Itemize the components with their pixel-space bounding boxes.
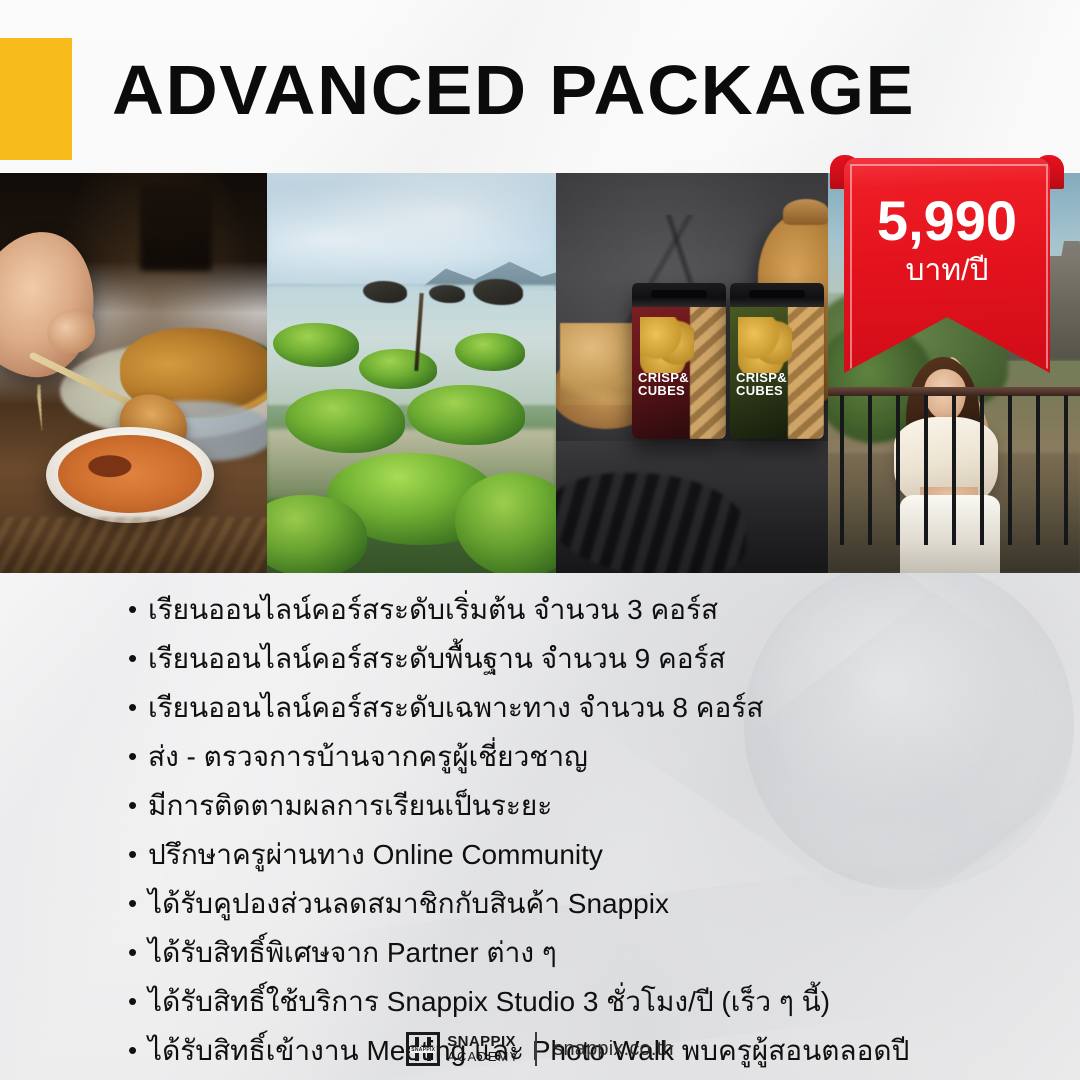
footer-url: snappix.co.th xyxy=(553,1038,673,1061)
product-jar-green: CRISP& CUBES xyxy=(730,283,824,439)
list-item: • เรียนออนไลน์คอร์สระดับเริ่มต้น จำนวน 3… xyxy=(128,590,988,629)
price-amount: 5,990 xyxy=(830,193,1064,249)
photo-detail xyxy=(0,517,267,573)
bullet-icon: • xyxy=(128,737,148,776)
header: ADVANCED PACKAGE xyxy=(0,0,1080,173)
footer: SNAPPIX SNAPPIX ACADEMY snappix.co.th xyxy=(0,1032,1080,1066)
list-item-label: ได้รับสิทธิ์ใช้บริการ Snappix Studio 3 ช… xyxy=(148,982,830,1021)
bullet-icon: • xyxy=(128,786,148,825)
bullet-icon: • xyxy=(128,933,148,972)
photo-detail xyxy=(140,183,212,271)
product-jar-red: CRISP& CUBES xyxy=(632,283,726,439)
brand-subtitle: ACADEMY xyxy=(447,1049,519,1064)
bullet-icon: • xyxy=(128,884,148,923)
jar-brand-line-2: CUBES xyxy=(736,384,817,397)
jar-chip-art xyxy=(738,317,792,373)
jar-brand-text: CRISP& CUBES xyxy=(736,371,817,397)
list-item: • มีการติดตามผลการเรียนเป็นระยะ xyxy=(128,786,988,825)
list-item-label: ปรึกษาครูผ่านทาง Online Community xyxy=(148,835,603,874)
bullet-icon: • xyxy=(128,688,148,727)
list-item: • ปรึกษาครูผ่านทาง Online Community xyxy=(128,835,988,874)
page-title: ADVANCED PACKAGE xyxy=(112,52,915,128)
list-item: • ส่ง - ตรวจการบ้านจากครูผู้เชี่ยวชาญ xyxy=(128,737,988,776)
accent-block xyxy=(0,38,72,160)
bullet-icon: • xyxy=(128,590,148,629)
brand-lockup: SNAPPIX SNAPPIX ACADEMY xyxy=(406,1032,519,1066)
photo-detail xyxy=(828,395,1080,545)
list-item: • เรียนออนไลน์คอร์สระดับเฉพาะทาง จำนวน 8… xyxy=(128,688,988,727)
list-item: • ได้รับสิทธิ์ใช้บริการ Snappix Studio 3… xyxy=(128,982,988,1021)
snappix-logo-icon: SNAPPIX xyxy=(406,1032,440,1066)
jar-brand-text: CRISP& CUBES xyxy=(638,371,719,397)
list-item-label: เรียนออนไลน์คอร์สระดับเริ่มต้น จำนวน 3 ค… xyxy=(148,590,718,629)
satay-food-photo xyxy=(0,173,267,573)
price-unit: บาท/ปี xyxy=(830,255,1064,287)
feature-list: • เรียนออนไลน์คอร์สระดับเริ่มต้น จำนวน 3… xyxy=(128,590,988,1080)
footer-divider xyxy=(535,1032,537,1066)
jar-brand-line-2: CUBES xyxy=(638,384,719,397)
brand-name: SNAPPIX xyxy=(447,1034,519,1049)
bullet-icon: • xyxy=(128,982,148,1021)
promo-poster: ADVANCED PACKAGE xyxy=(0,0,1080,1080)
brand-words: SNAPPIX ACADEMY xyxy=(447,1034,519,1064)
product-photo: CRISP& CUBES CRISP& CUBES xyxy=(556,173,828,573)
photo-detail xyxy=(58,435,202,513)
bullet-icon: • xyxy=(128,639,148,678)
list-item-label: เรียนออนไลน์คอร์สระดับเฉพาะทาง จำนวน 8 ค… xyxy=(148,688,763,727)
price-ribbon: 5,990 บาท/ปี xyxy=(830,155,1064,373)
bullet-icon: • xyxy=(128,835,148,874)
list-item-label: ส่ง - ตรวจการบ้านจากครูผู้เชี่ยวชาญ xyxy=(148,737,588,776)
list-item-label: ได้รับสิทธิ์พิเศษจาก Partner ต่าง ๆ xyxy=(148,933,557,972)
jar-lid xyxy=(632,283,726,307)
list-item-label: มีการติดตามผลการเรียนเป็นระยะ xyxy=(148,786,552,825)
seascape-photo xyxy=(267,173,556,573)
jar-lid xyxy=(730,283,824,307)
logo-mark-word: SNAPPIX xyxy=(410,1047,436,1053)
list-item-label: เรียนออนไลน์คอร์สระดับพื้นฐาน จำนวน 9 คอ… xyxy=(148,639,726,678)
list-item: • เรียนออนไลน์คอร์สระดับพื้นฐาน จำนวน 9 … xyxy=(128,639,988,678)
list-item-label: ได้รับคูปองส่วนลดสมาชิกกับสินค้า Snappix xyxy=(148,884,669,923)
jar-chip-art xyxy=(640,317,694,373)
photo-detail xyxy=(455,473,556,573)
list-item: • ได้รับคูปองส่วนลดสมาชิกกับสินค้า Snapp… xyxy=(128,884,988,923)
list-item: • ได้รับสิทธิ์พิเศษจาก Partner ต่าง ๆ xyxy=(128,933,988,972)
